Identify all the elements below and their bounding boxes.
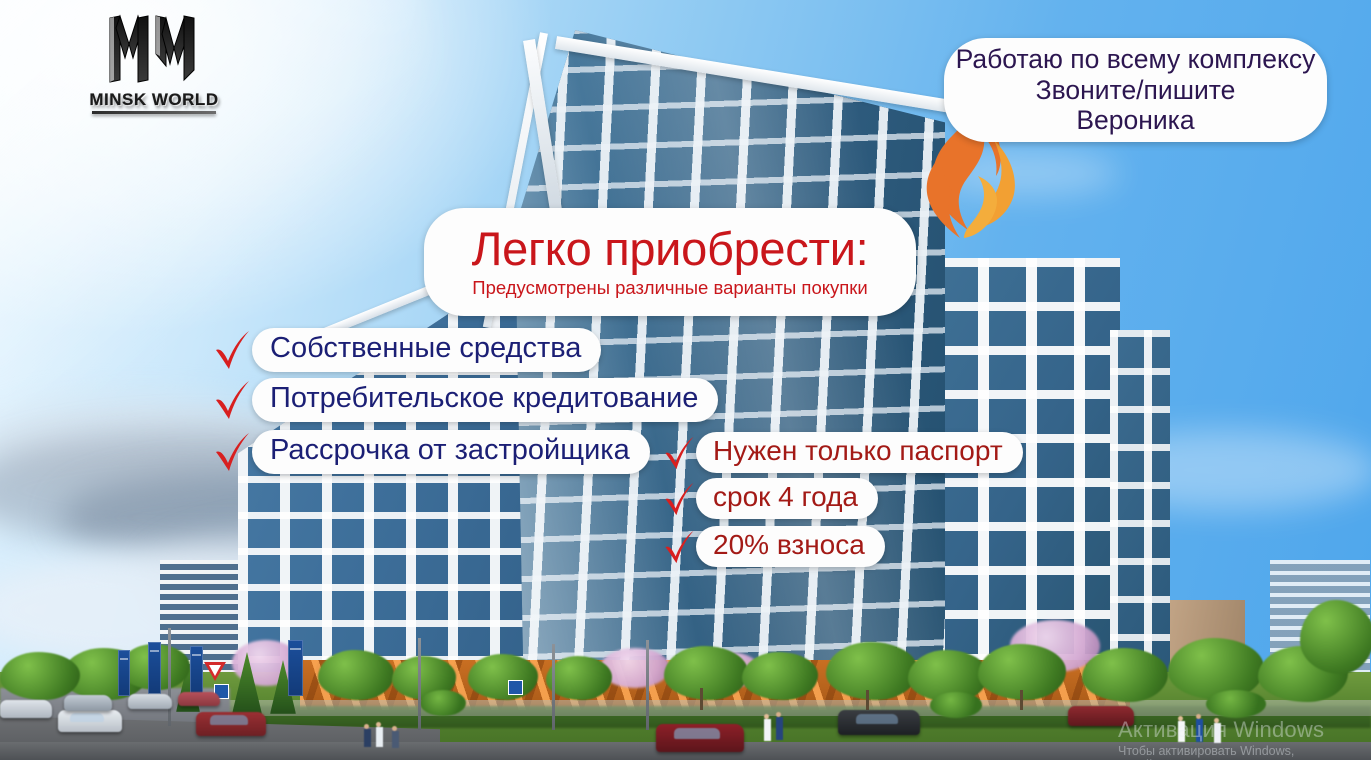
list-item[interactable]: Рассрочка от застройщика (212, 430, 650, 474)
headline-bubble: Легко приобрести: Предусмотрены различны… (424, 208, 916, 316)
car (656, 724, 744, 752)
contact-bubble[interactable]: Работаю по всему комплексу Звоните/пишит… (944, 38, 1327, 142)
tree (1082, 648, 1168, 702)
list-item-pill: 20% взноса (696, 526, 885, 567)
bush (420, 690, 466, 716)
page-subtitle: Предусмотрены различные варианты покупки (472, 277, 867, 299)
list-item[interactable]: срок 4 года (662, 478, 878, 519)
list-item-label: Рассрочка от застройщика (252, 430, 650, 474)
lamp-post (552, 644, 555, 730)
logo-wordmark: MINSK WORLD (86, 90, 222, 110)
building-right-tower (1110, 330, 1170, 698)
list-item-pill: Рассрочка от застройщика (252, 430, 650, 474)
tree (826, 642, 918, 700)
car (128, 694, 172, 709)
watermark-subtitle: Чтобы активировать Windows, перейдите в … (1118, 744, 1358, 760)
list-item-label: 20% взноса (696, 526, 885, 567)
car (178, 692, 220, 706)
mw-monogram-icon (104, 14, 204, 86)
check-mark-icon (212, 378, 252, 422)
list-item[interactable]: Нужен только паспорт (662, 432, 1023, 473)
car (64, 695, 112, 711)
windows-activation-watermark: Активация Windows Чтобы активировать Win… (1118, 718, 1358, 760)
street-banner (288, 640, 303, 696)
tree-trunk (1020, 690, 1023, 710)
yield-sign (204, 662, 226, 681)
tree (1300, 600, 1371, 674)
street-banner (190, 646, 203, 696)
check-mark-icon (212, 430, 252, 474)
list-item[interactable]: 20% взноса (662, 526, 885, 567)
bush (1206, 690, 1266, 718)
list-item[interactable]: Собственные средства (212, 328, 601, 372)
check-mark-icon (212, 328, 252, 372)
tree (0, 652, 80, 700)
pedestrian-sign (508, 680, 523, 695)
list-item-label: срок 4 года (696, 478, 878, 519)
car (838, 710, 920, 735)
lamp-post (168, 628, 171, 726)
bush (930, 692, 982, 718)
lamp-post (646, 640, 649, 730)
promo-banner: MINSK WORLD Работаю по всему комплексу З… (0, 0, 1371, 760)
check-mark-icon (662, 527, 696, 567)
watermark-title: Активация Windows (1118, 718, 1358, 741)
list-item-label: Нужен только паспорт (696, 432, 1023, 473)
list-item[interactable]: Потребительское кредитование (212, 378, 718, 422)
street-banner (148, 642, 161, 694)
minsk-world-logo[interactable]: MINSK WORLD (86, 14, 222, 116)
tree (468, 654, 538, 700)
list-item-label: Потребительское кредитование (252, 378, 718, 422)
list-item-pill: Потребительское кредитование (252, 378, 718, 422)
tree (664, 646, 748, 700)
tree-trunk (866, 690, 869, 710)
street-banner (118, 650, 130, 696)
tree-trunk (700, 688, 703, 710)
list-item-pill: срок 4 года (696, 478, 878, 519)
lamp-post (418, 638, 421, 730)
list-item-pill: Собственные средства (252, 328, 601, 372)
car (196, 712, 266, 736)
list-item-pill: Нужен только паспорт (696, 432, 1023, 473)
car (0, 700, 52, 718)
logo-underline (92, 111, 216, 114)
tree (742, 652, 818, 700)
tree (318, 650, 394, 700)
tree (546, 656, 612, 700)
list-item-label: Собственные средства (252, 328, 601, 372)
car (58, 710, 122, 732)
check-mark-icon (662, 479, 696, 519)
contact-text: Работаю по всему комплексу Звоните/пишит… (956, 44, 1316, 136)
page-title: Легко приобрести: (472, 225, 869, 272)
check-mark-icon (662, 433, 696, 473)
